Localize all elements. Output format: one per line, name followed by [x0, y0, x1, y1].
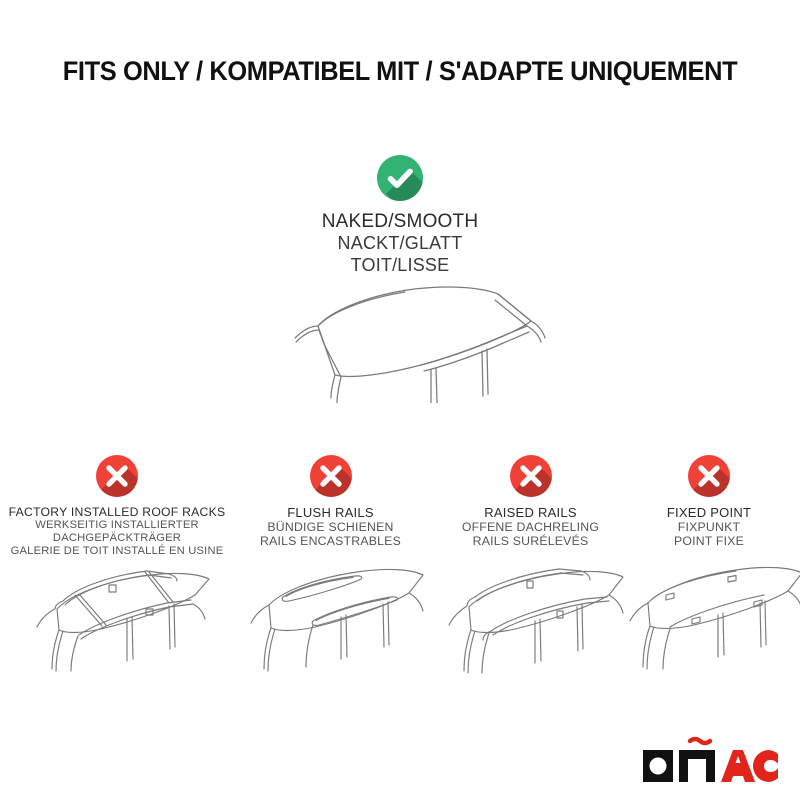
rejected-label-en: RAISED RAILS — [428, 505, 633, 520]
rejected-item-factory-installed-roof-racks: FACTORY INSTALLED ROOF RACKS WERKSEITIG … — [3, 455, 231, 558]
rejected-label-en: FLUSH RAILS — [228, 505, 433, 520]
rejected-label-fr: RAILS SURÉLEVÉS — [428, 534, 633, 548]
approved-section: NAKED/SMOOTH NACKT/GLATT TOIT/LISSE — [0, 155, 800, 276]
rejected-caption: RAISED RAILS OFFENE DACHRELING RAILS SUR… — [428, 505, 633, 549]
x-circle-icon — [310, 455, 352, 497]
rejected-label-fr: RAILS ENCASTRABLES — [228, 534, 433, 548]
car-roof-naked-smooth-illustration — [255, 278, 555, 403]
rejected-label-en: FIXED POINT — [620, 505, 798, 520]
approved-caption: NAKED/SMOOTH NACKT/GLATT TOIT/LISSE — [0, 211, 800, 276]
rejected-caption: FIXED POINT FIXPUNKT POINT FIXE — [620, 505, 798, 549]
rejected-caption: FLUSH RAILS BÜNDIGE SCHIENEN RAILS ENCAS… — [228, 505, 433, 549]
page-title: FITS ONLY / KOMPATIBEL MIT / S'ADAPTE UN… — [16, 56, 784, 87]
rejected-label-de: OFFENE DACHRELING — [428, 520, 633, 534]
x-circle-icon — [510, 455, 552, 497]
rejected-section: FACTORY INSTALLED ROOF RACKS WERKSEITIG … — [0, 455, 800, 715]
car-roof-factory-rack-illustration — [17, 551, 217, 706]
rejected-item-raised-rails: RAISED RAILS OFFENE DACHRELING RAILS SUR… — [428, 455, 633, 549]
rejected-label-fr: POINT FIXE — [620, 534, 798, 548]
x-circle-icon — [96, 455, 138, 497]
check-circle-icon — [377, 155, 423, 201]
rejected-label-de: FIXPUNKT — [620, 520, 798, 534]
approved-label-fr: TOIT/LISSE — [0, 255, 800, 276]
approved-label-en: NAKED/SMOOTH — [0, 211, 800, 233]
rejected-label-de-2: DACHGEPÄCKTRÄGER — [3, 532, 231, 545]
rejected-label-de: BÜNDIGE SCHIENEN — [228, 520, 433, 534]
car-roof-raised-rails-illustration — [431, 555, 631, 710]
rejected-label-en: FACTORY INSTALLED ROOF RACKS — [3, 505, 231, 519]
omac-logo: OMAC — [643, 736, 778, 782]
approved-label-de: NACKT/GLATT — [0, 233, 800, 254]
car-roof-flush-rails-illustration — [231, 555, 431, 710]
rejected-label-de: WERKSEITIG INSTALLIERTER — [3, 519, 231, 532]
rejected-item-fixed-point: FIXED POINT FIXPUNKT POINT FIXE — [620, 455, 798, 549]
x-circle-icon — [688, 455, 730, 497]
car-roof-fixed-point-illustration — [614, 555, 800, 710]
rejected-item-flush-rails: FLUSH RAILS BÜNDIGE SCHIENEN RAILS ENCAS… — [228, 455, 433, 549]
